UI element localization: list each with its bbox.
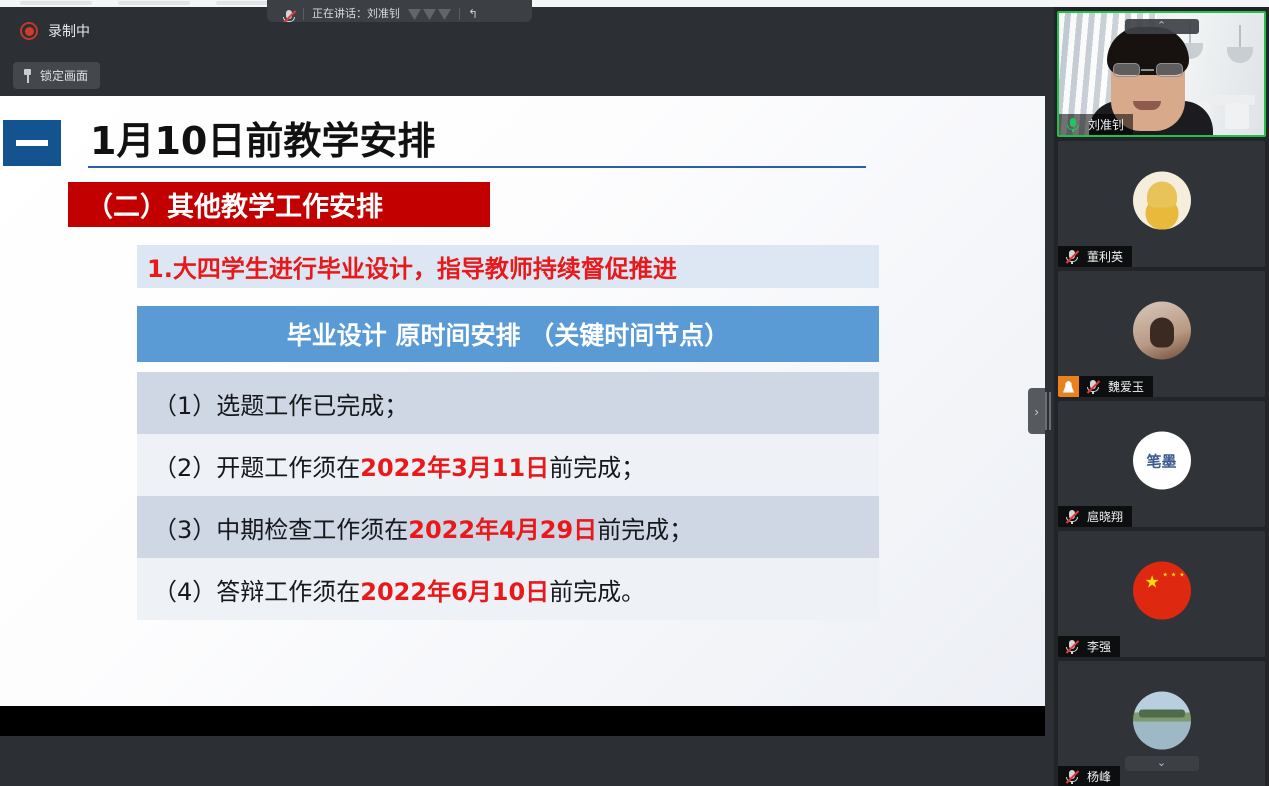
record-dot-icon [20, 22, 38, 40]
scroll-down-button[interactable]: ⌄ [1125, 756, 1199, 771]
row-text-prefix: （1）选题工作已完成； [153, 386, 408, 421]
participant-name: 刘准钊 [1088, 116, 1124, 133]
timeline-row: （1）选题工作已完成； [137, 372, 879, 434]
calligraphy-avatar [1133, 432, 1191, 490]
speaking-label: 正在讲话：刘准钊 [312, 8, 400, 20]
participant-tiles: 刘准钊董利英魏爱玉扈晓翔李强杨峰 [1054, 11, 1269, 786]
microphone-on-icon[interactable] [1063, 114, 1083, 135]
dash-marker-icon [3, 120, 61, 166]
section-banner-label: （二）其他教学工作安排 [68, 185, 383, 224]
undo-arrow-icon[interactable]: ↰ [468, 8, 478, 20]
participant-namebar: 董利英 [1058, 246, 1132, 267]
participant-namebar: 魏爱玉 [1058, 376, 1153, 397]
row-text-prefix: （4）答辩工作须在 [153, 572, 360, 607]
timeline-rows: （1）选题工作已完成；（2）开题工作须在2022年3月11日前完成；（3）中期检… [137, 372, 879, 620]
participant-name: 扈晓翔 [1087, 508, 1123, 525]
microphone-muted-icon[interactable] [275, 6, 295, 20]
meeting-window: 正在讲话：刘准钊 ↰ 录制中 锁定画面 1月10日前教学安排 （二）其他教学工作… [0, 0, 1269, 786]
timeline-row: （2）开题工作须在2022年3月11日前完成； [137, 434, 879, 496]
slide-letterbox [0, 706, 1045, 736]
sunflower-avatar [1133, 172, 1191, 230]
table-header-label: 毕业设计 原时间安排 （关键时间节点） [287, 316, 729, 352]
microphone-muted-icon[interactable] [1062, 636, 1082, 657]
woman-portrait-avatar [1133, 302, 1191, 360]
pin-icon [22, 69, 33, 83]
microphone-muted-icon[interactable] [1062, 766, 1082, 786]
signal-indicator-icon [408, 9, 451, 20]
window-top-strip [0, 0, 1269, 7]
participant-name: 杨峰 [1087, 768, 1111, 785]
section-banner: （二）其他教学工作安排 [68, 182, 490, 227]
row-date-highlight: 2022年6月10日 [360, 572, 549, 607]
toolbar-divider-2 [459, 8, 460, 20]
microphone-muted-icon[interactable] [1062, 246, 1082, 267]
row-text-suffix: 前完成。 [549, 572, 645, 607]
participant-tile[interactable]: 扈晓翔 [1058, 401, 1265, 527]
sub-heading-label: 1.大四学生进行毕业设计，指导教师持续督促推进 [137, 249, 677, 284]
recording-indicator: 录制中 [20, 21, 90, 41]
scroll-up-button[interactable]: ⌃ [1125, 19, 1199, 34]
row-date-highlight: 2022年4月29日 [408, 510, 597, 545]
participant-name: 董利英 [1087, 248, 1123, 265]
chevron-down-icon: ⌄ [1157, 758, 1166, 769]
participant-namebar: 李强 [1058, 636, 1120, 657]
participant-tile[interactable]: 李强 [1058, 531, 1265, 657]
microphone-muted-icon[interactable] [1062, 506, 1082, 527]
speaking-toolbar[interactable]: 正在讲话：刘准钊 ↰ [267, 0, 532, 22]
collapse-panel-button[interactable]: › [1028, 388, 1045, 434]
lake-landscape-avatar [1133, 692, 1191, 750]
slide-title: 1月10日前教学安排 [90, 110, 435, 165]
row-text-prefix: （2）开题工作须在 [153, 448, 360, 483]
timeline-row: （3）中期检查工作须在2022年4月29日前完成； [137, 496, 879, 558]
row-text-prefix: （3）中期检查工作须在 [153, 510, 408, 545]
participant-rail: ⌃ 刘准钊董利英魏爱玉扈晓翔李强杨峰 ⌄ [1054, 7, 1269, 786]
sub-heading: 1.大四学生进行毕业设计，指导教师持续督促推进 [137, 245, 879, 288]
chevron-right-icon: › [1034, 404, 1038, 419]
recording-label: 录制中 [48, 21, 90, 41]
toolbar-divider [303, 8, 304, 20]
china-flag-avatar [1133, 562, 1191, 620]
row-text-suffix: 前完成； [597, 510, 693, 545]
participant-namebar: 刘准钊 [1059, 114, 1133, 135]
bottom-toolbar-area [0, 736, 1045, 786]
participant-namebar: 扈晓翔 [1058, 506, 1132, 527]
shared-slide: 1月10日前教学安排 （二）其他教学工作安排 1.大四学生进行毕业设计，指导教师… [0, 96, 1045, 706]
participant-name: 李强 [1087, 638, 1111, 655]
row-date-highlight: 2022年3月11日 [360, 448, 549, 483]
row-text-suffix: 前完成； [549, 448, 645, 483]
title-underline [88, 166, 866, 168]
lock-screen-label: 锁定画面 [40, 67, 88, 84]
participant-tile[interactable]: 魏爱玉 [1058, 271, 1265, 397]
chevron-up-icon: ⌃ [1157, 21, 1166, 32]
table-header: 毕业设计 原时间安排 （关键时间节点） [137, 306, 879, 362]
panel-resize-handle[interactable] [1045, 392, 1051, 430]
timeline-row: （4）答辩工作须在2022年6月10日前完成。 [137, 558, 879, 620]
participant-tile[interactable]: 董利英 [1058, 141, 1265, 267]
microphone-muted-icon[interactable] [1083, 376, 1103, 397]
lock-screen-button[interactable]: 锁定画面 [13, 62, 100, 89]
participant-namebar: 杨峰 [1058, 766, 1120, 786]
host-badge-icon [1058, 376, 1079, 397]
participant-name: 魏爱玉 [1108, 378, 1144, 395]
